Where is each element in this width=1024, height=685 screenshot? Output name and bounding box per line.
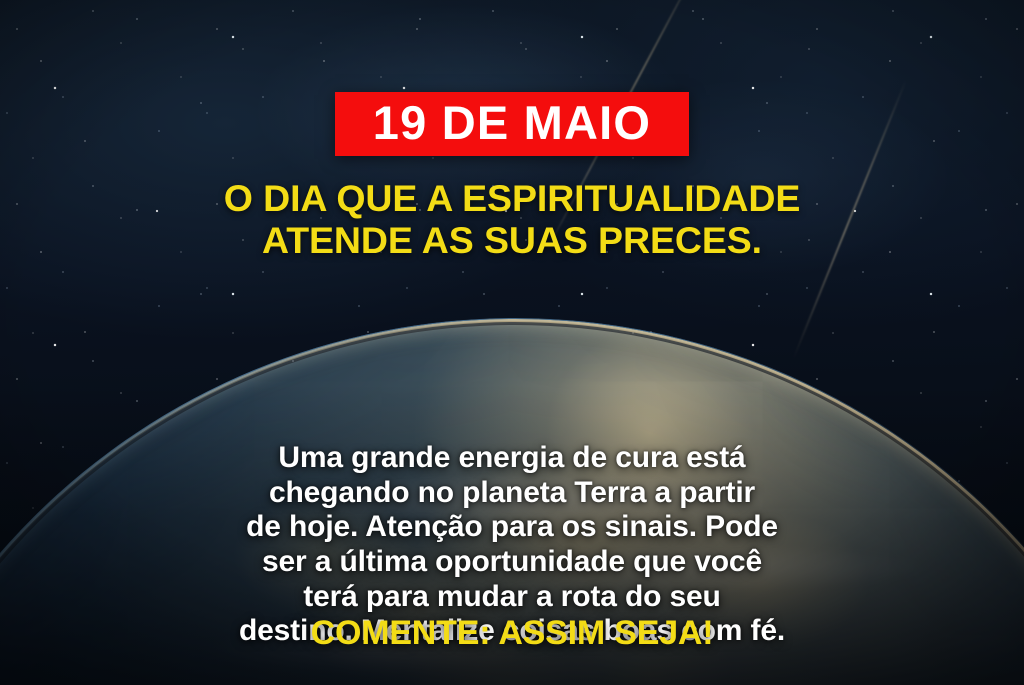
body-line: terá para mudar a rota do seu [62, 580, 962, 615]
body-line: de hoje. Atenção para os sinais. Pode [62, 510, 962, 545]
poster-canvas: 19 DE MAIO O DIA QUE A ESPIRITUALIDADE A… [0, 0, 1024, 685]
headline-line-2: ATENDE AS SUAS PRECES. [72, 219, 952, 261]
poster-content: 19 DE MAIO O DIA QUE A ESPIRITUALIDADE A… [0, 0, 1024, 685]
date-banner: 19 DE MAIO [335, 92, 689, 156]
headline: O DIA QUE A ESPIRITUALIDADE ATENDE AS SU… [72, 177, 952, 262]
body-line: Uma grande energia de cura está [62, 441, 962, 476]
headline-line-1: O DIA QUE A ESPIRITUALIDADE [224, 177, 801, 219]
call-to-action-text: COMENTE: ASSIM SEJA! [311, 614, 714, 653]
body-line: chegando no planeta Terra a partir [62, 476, 962, 511]
date-banner-label: 19 DE MAIO [373, 99, 651, 146]
body-line: ser a última oportunidade que você [62, 545, 962, 580]
